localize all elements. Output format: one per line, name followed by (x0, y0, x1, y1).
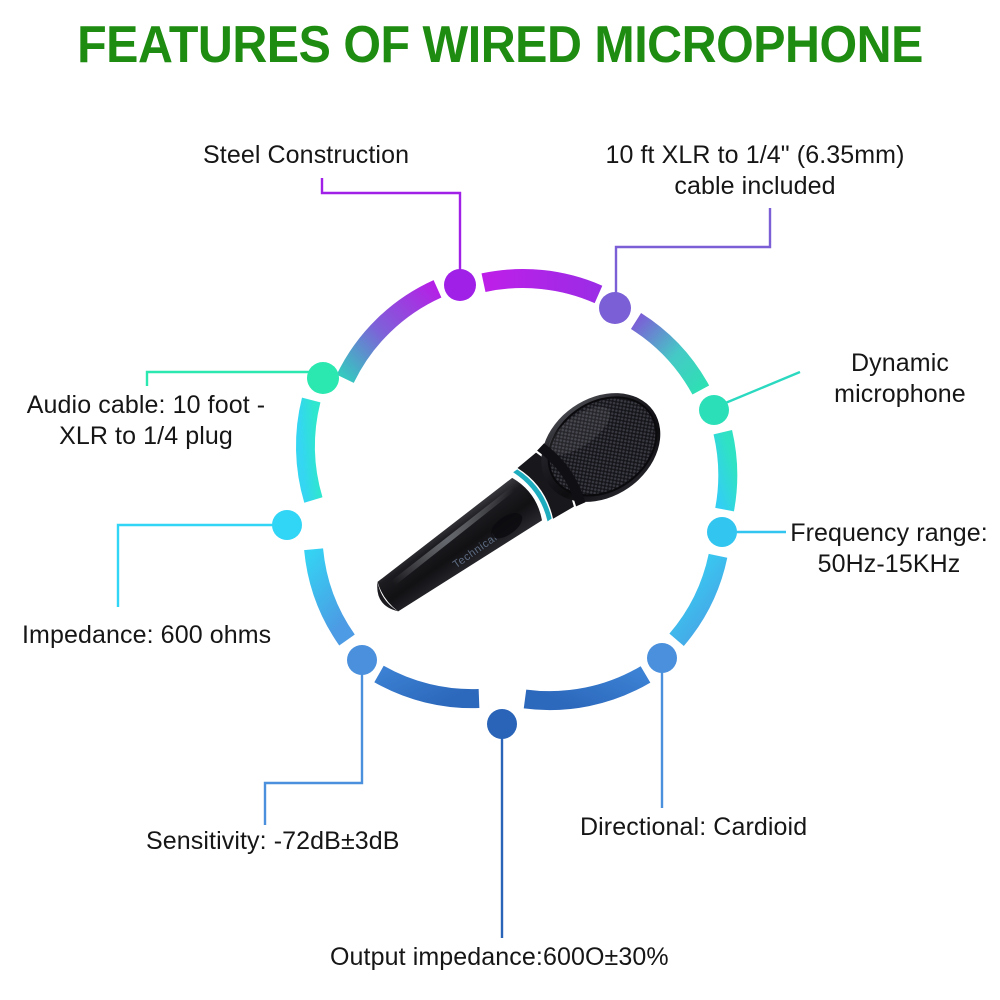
label-line: Directional: Cardioid (580, 812, 807, 843)
microphone-handle (370, 474, 546, 619)
label-line: Frequency range: (784, 518, 994, 549)
ring-segment-topleft (345, 289, 437, 379)
ring-segment-bottomleft (379, 674, 479, 699)
connector-xlr-cable (616, 208, 770, 296)
label-line: XLR to 1/4 plug (12, 421, 280, 452)
label-line: Sensitivity: -72dB±3dB (146, 826, 400, 857)
microphone-image: Technical (318, 372, 728, 632)
label-output-impedance: Output impedance:600O±30% (330, 942, 669, 973)
node-dot-output-impedance[interactable] (487, 709, 517, 739)
connector-impedance (118, 525, 276, 607)
connector-sensitivity (265, 672, 362, 825)
ring-segment-topmid (484, 279, 599, 295)
label-steel-construction: Steel Construction (203, 140, 409, 171)
connector-audio-cable (147, 372, 312, 386)
label-line: cable included (600, 171, 910, 202)
label-line: Impedance: 600 ohms (22, 620, 271, 651)
label-dynamic-microphone: Dynamic microphone (810, 348, 990, 410)
label-line: 10 ft XLR to 1/4" (6.35mm) (600, 140, 910, 171)
node-dot-steel-construction[interactable] (444, 269, 476, 301)
label-audio-cable: Audio cable: 10 foot - XLR to 1/4 plug (12, 390, 280, 452)
infographic-page: FEATURES OF WIRED MICROPHONE (0, 0, 1000, 1000)
connector-steel-construction (322, 178, 460, 273)
node-dot-directional[interactable] (647, 643, 677, 673)
label-impedance: Impedance: 600 ohms (22, 620, 271, 651)
label-line: Steel Construction (203, 140, 409, 171)
label-line: Audio cable: 10 foot - (12, 390, 280, 421)
ring-segment-bottomright (525, 674, 646, 700)
connector-dynamic-microphone (723, 372, 800, 404)
label-frequency-range: Frequency range: 50Hz-15KHz (784, 518, 994, 580)
ring-segment-leftupper (305, 400, 313, 500)
label-directional: Directional: Cardioid (580, 812, 807, 843)
label-line: Dynamic (810, 348, 990, 379)
node-dot-xlr-cable[interactable] (599, 292, 631, 324)
node-dot-sensitivity[interactable] (347, 645, 377, 675)
microphone-illustration: Technical (318, 372, 728, 632)
label-sensitivity: Sensitivity: -72dB±3dB (146, 826, 400, 857)
label-line: microphone (810, 379, 990, 410)
label-xlr-cable: 10 ft XLR to 1/4" (6.35mm) cable include… (600, 140, 910, 202)
label-line: Output impedance:600O±30% (330, 942, 669, 973)
node-dot-impedance[interactable] (272, 510, 302, 540)
label-line: 50Hz-15KHz (784, 549, 994, 580)
